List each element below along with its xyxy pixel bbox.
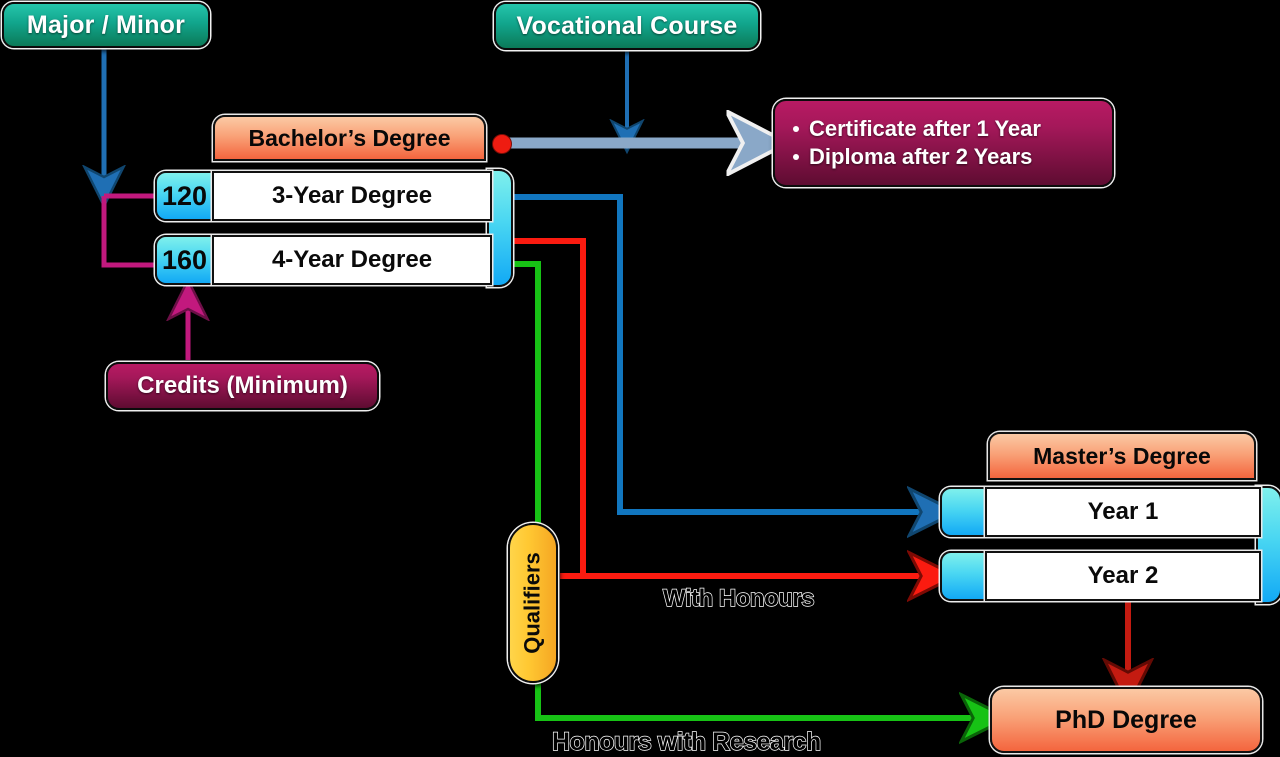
bachelor-header-label: Bachelor’s Degree — [249, 125, 451, 152]
node-credits-minimum[interactable]: Credits (Minimum) — [106, 362, 379, 410]
diagram-canvas: Major / Minor Vocational Course Certific… — [0, 0, 1280, 756]
credits-minimum-label: Credits (Minimum) — [137, 372, 348, 400]
master-row-year-1[interactable]: Year 1 — [985, 487, 1261, 537]
edge-four-year-to-phd — [512, 264, 984, 718]
bachelor-header: Bachelor’s Degree — [213, 115, 486, 161]
bullet-icon — [793, 126, 799, 132]
edge-four-year-to-master-year2 — [512, 241, 932, 576]
node-vocational-course[interactable]: Vocational Course — [494, 2, 760, 50]
list-item: Certificate after 1 Year — [793, 116, 1112, 142]
certificate-item-0: Certificate after 1 Year — [809, 116, 1041, 142]
node-major-minor[interactable]: Major / Minor — [2, 2, 210, 48]
certificate-item-1: Diploma after 2 Years — [809, 144, 1032, 170]
edge-major-minor-to-credits — [104, 46, 190, 265]
vocational-course-label: Vocational Course — [516, 12, 737, 41]
bachelor-output-marker-dot — [492, 134, 512, 154]
master-row-year-2[interactable]: Year 2 — [985, 551, 1261, 601]
bachelor-credits-160: 160 — [155, 235, 214, 285]
bachelor-row-3-year-label: 3-Year Degree — [272, 182, 432, 210]
master-row-year-2-label: Year 2 — [1088, 562, 1159, 590]
node-qualifiers[interactable]: Qualifiers — [508, 523, 558, 683]
phd-degree-label: PhD Degree — [1055, 706, 1197, 735]
bachelor-row-4-year[interactable]: 4-Year Degree — [212, 235, 492, 285]
bachelor-row-4-year-label: 4-Year Degree — [272, 246, 432, 274]
bachelor-row-3-year[interactable]: 3-Year Degree — [212, 171, 492, 221]
master-header-label: Master’s Degree — [1033, 443, 1211, 470]
node-certificate-diploma[interactable]: Certificate after 1 Year Diploma after 2… — [773, 99, 1114, 187]
bachelor-credits-120: 120 — [155, 171, 214, 221]
bachelor-credits-160-label: 160 — [162, 245, 207, 276]
edge-label-honours-with-research: Honours with Research — [552, 728, 821, 757]
certificate-bullet-list: Certificate after 1 Year Diploma after 2… — [775, 101, 1112, 185]
major-minor-label: Major / Minor — [27, 11, 185, 40]
edge-three-year-to-master-year1 — [512, 197, 932, 512]
master-row-year-1-label: Year 1 — [1088, 498, 1159, 526]
master-header: Master’s Degree — [988, 432, 1256, 480]
list-item: Diploma after 2 Years — [793, 144, 1112, 170]
bachelor-credits-120-label: 120 — [162, 181, 207, 212]
edge-label-with-honours: With Honours — [663, 585, 814, 613]
node-phd-degree[interactable]: PhD Degree — [990, 687, 1262, 753]
bullet-icon — [793, 154, 799, 160]
qualifiers-label: Qualifiers — [520, 552, 546, 653]
master-left-cap-year1 — [940, 487, 986, 537]
master-left-cap-year2 — [940, 551, 986, 601]
